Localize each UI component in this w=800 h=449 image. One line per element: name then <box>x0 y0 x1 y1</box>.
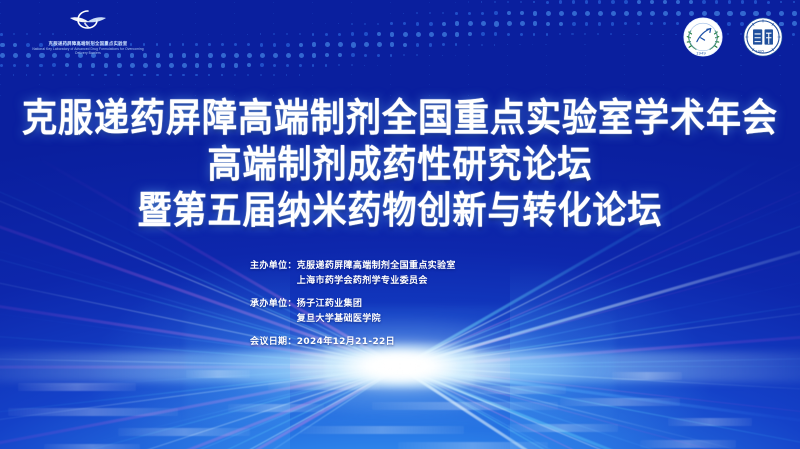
speed-bar <box>640 440 736 448</box>
speed-bar <box>470 386 566 394</box>
speed-bar <box>372 402 558 410</box>
organizer-label: 承办单位： <box>250 297 297 327</box>
organizer-value-1: 扬子江药业集团 <box>297 297 381 312</box>
host-row: 主办单位： 克服递药屏障高端制剂全国重点实验室 上海市药学会药剂学专业委员会 <box>250 259 550 289</box>
speed-bar <box>268 382 380 390</box>
speed-bar <box>228 404 324 412</box>
speed-bar <box>8 408 178 416</box>
speed-bar <box>300 426 464 434</box>
bird-wave-emblem-icon <box>67 8 109 39</box>
date-row: 会议日期： 2024年12月21-22日 <box>250 335 550 350</box>
organizer-row: 承办单位： 扬子江药业集团 复旦大学基础医学院 <box>250 297 550 327</box>
fudan-university-seal-icon: 1905 <box>740 14 786 65</box>
speed-bar <box>398 442 548 449</box>
date-value: 2024年12月21-22日 <box>297 335 395 350</box>
speed-bar <box>18 383 136 391</box>
date-label: 会议日期： <box>250 335 297 350</box>
speed-bar <box>668 418 752 426</box>
host-label: 主办单位： <box>250 259 297 289</box>
poster-title-block: 克服递药屏障高端制剂全国重点实验室学术年会 高端制剂成药性研究论坛 暨第五届纳米… <box>0 100 800 230</box>
speed-bar <box>560 398 680 406</box>
partner-seals: 1949 1905 <box>680 14 786 65</box>
speed-bar <box>186 370 250 378</box>
info-block: 主办单位： 克服递药屏障高端制剂全国重点实验室 上海市药学会药剂学专业委员会 承… <box>0 259 800 350</box>
speed-bar <box>508 424 618 432</box>
speed-bar <box>118 428 250 436</box>
svg-text:1905: 1905 <box>755 49 764 53</box>
svg-text:1949: 1949 <box>696 51 706 56</box>
title-line-1: 克服递药屏障高端制剂全国重点实验室学术年会 <box>0 98 800 142</box>
title-line-3: 暨第五届纳米药物创新与转化论坛 <box>0 190 800 233</box>
title-line-2: 高端制剂成药性研究论坛 <box>0 144 800 187</box>
host-value-2: 上海市药学会药剂学专业委员会 <box>297 274 456 289</box>
host-value-1: 克服递药屏障高端制剂全国重点实验室 <box>297 259 456 274</box>
pharmaceutical-association-seal-icon: 1949 <box>680 14 726 65</box>
lab-name-en: National Key Laboratory of Advanced Drug… <box>26 47 150 57</box>
organizer-value-2: 复旦大学基础医学院 <box>297 312 381 327</box>
lab-logo: 克服递药屏障高端制剂全国重点实验室 National Key Laborator… <box>24 8 152 56</box>
conference-poster: 克服递药屏障高端制剂全国重点实验室 National Key Laborator… <box>0 0 800 449</box>
speed-bar <box>44 444 140 449</box>
speed-bar <box>612 372 682 380</box>
